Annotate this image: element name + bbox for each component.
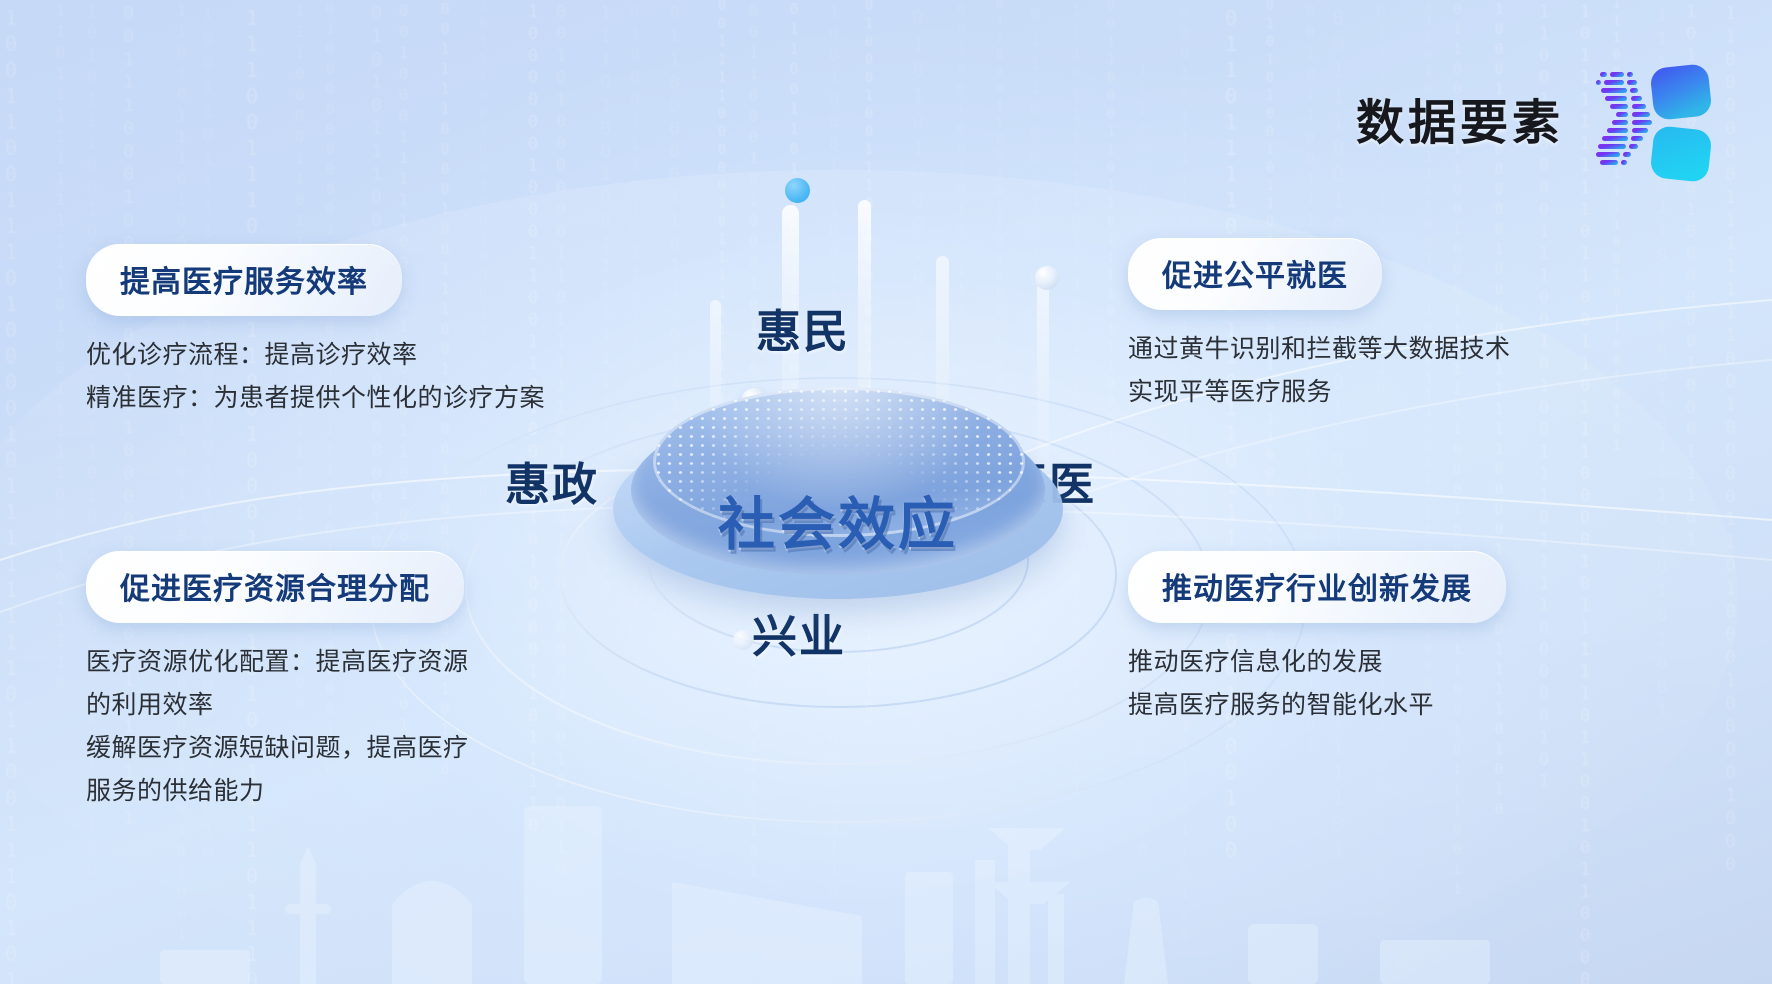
orbit-word-bottom: 兴业 [752, 600, 846, 665]
binary-column: 0011011110111110110111001001000100 [1221, 0, 1241, 864]
binary-column: 1110111111111110100111110001011110 [50, 0, 70, 694]
slide-canvas: 1100110011101000010111111110110011101010… [0, 0, 1772, 984]
block-body-line: 缓解医疗资源短缺问题，提高医疗 [86, 727, 469, 770]
decor-sphere-3 [733, 630, 753, 650]
binary-column: 1111001110001110010001011101011111011101… [242, 0, 262, 984]
block-body-line: 医疗资源优化配置：提高医疗资源 [86, 641, 469, 684]
block-body-line: 的利用效率 [86, 684, 469, 727]
block-body-line: 提高医疗服务的智能化水平 [1128, 684, 1506, 727]
decor-sphere-2 [1035, 266, 1059, 290]
block-title-pill[interactable]: 提高医疗服务效率 [86, 244, 402, 316]
orbit-word-top: 惠民 [756, 295, 850, 360]
binary-column: 1100110011101000010111111110110011101010… [1, 0, 21, 984]
block-body-line: 精准医疗：为患者提供个性化的诊疗方案 [86, 377, 545, 420]
binary-column: 00101010001010000001110010000 [908, 0, 928, 734]
block-body: 优化诊疗流程：提高诊疗效率 精准医疗：为患者提供个性化的诊疗方案 [86, 334, 545, 420]
orbit-word-left: 惠政 [505, 448, 599, 513]
block-body-line: 优化诊疗流程：提高诊疗效率 [86, 334, 545, 377]
binary-column: 0000111000010100100000001000100101011001… [1132, 0, 1152, 860]
block-body-line: 服务的供给能力 [86, 770, 469, 813]
block-body: 通过黄牛识别和拦截等大数据技术 实现平等医疗服务 [1128, 328, 1511, 414]
block-body: 推动医疗信息化的发展 提高医疗服务的智能化水平 [1128, 641, 1506, 727]
block-body-line: 通过黄牛识别和拦截等大数据技术 [1128, 328, 1511, 371]
decor-dot-cyan [785, 178, 810, 203]
binary-column: 111101111110111001111101111101011111111 [1066, 0, 1086, 799]
x-logo-icon [1570, 48, 1720, 188]
brand-logo[interactable]: 数据要素 [1356, 48, 1720, 188]
binary-column: 0110101110100111010001001001111100000100… [171, 0, 191, 967]
binary-column: 111000000111111100100001101000100001000 [1720, 0, 1740, 877]
block-body: 医疗资源优化配置：提高医疗资源 的利用效率 缓解医疗资源短缺问题，提高医疗 服务… [86, 641, 469, 813]
block-title-pill[interactable]: 促进公平就医 [1128, 238, 1382, 310]
center-disc: 社会效应 [613, 383, 1063, 603]
binary-column: 0001110010000000100101110101111101 [1328, 0, 1348, 864]
binary-column: 0001100011011011110111000101 [1101, 0, 1121, 484]
block-title-pill[interactable]: 促进医疗资源合理分配 [86, 551, 464, 623]
block-body-line: 推动医疗信息化的发展 [1128, 641, 1506, 684]
block-bottom-left: 促进医疗资源合理分配 医疗资源优化配置：提高医疗资源 的利用效率 缓解医疗资源短… [86, 551, 469, 813]
binary-column: 0001010000001101111101010100100010010011… [551, 0, 571, 882]
block-top-right: 促进公平就医 通过黄牛识别和拦截等大数据技术 实现平等医疗服务 [1128, 238, 1511, 414]
block-title-pill[interactable]: 推动医疗行业创新发展 [1128, 551, 1506, 623]
block-bottom-right: 推动医疗行业创新发展 推动医疗信息化的发展 提高医疗服务的智能化水平 [1128, 551, 1506, 727]
brand-title: 数据要素 [1356, 83, 1564, 153]
block-top-left: 提高医疗服务效率 优化诊疗流程：提高诊疗效率 精准医疗：为患者提供个性化的诊疗方… [86, 244, 545, 420]
block-body-line: 实现平等医疗服务 [1128, 371, 1511, 414]
center-label: 社会效应 [613, 479, 1063, 561]
binary-column: 0000101111100011100101010000011110110101… [1174, 0, 1194, 946]
